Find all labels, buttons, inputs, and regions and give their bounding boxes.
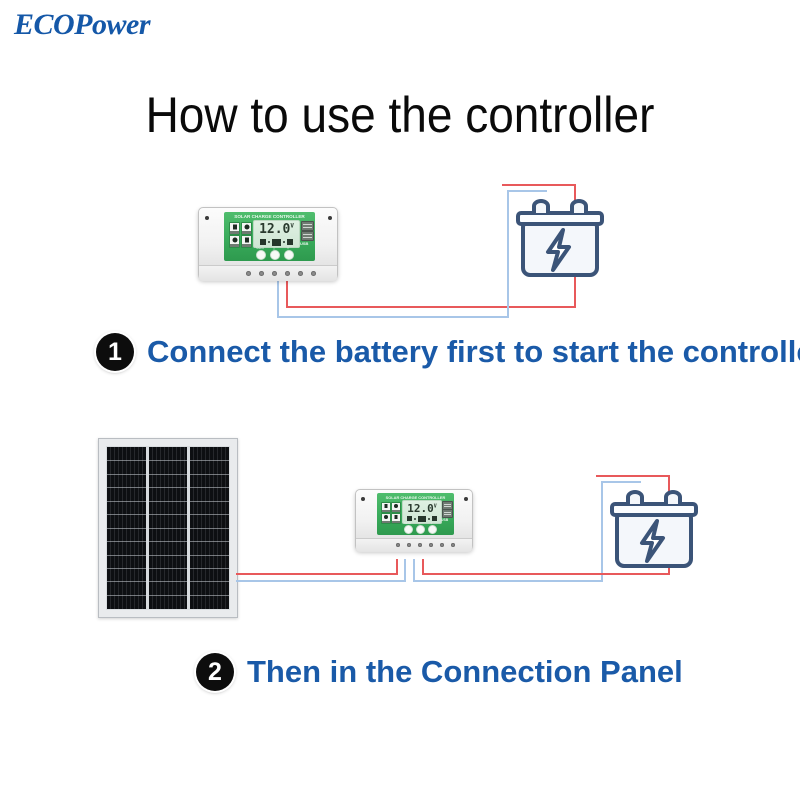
lcd-voltage-number: 12.0 (259, 222, 290, 237)
terminal-hole[interactable] (440, 543, 444, 547)
down-button-label: ▽ (280, 246, 296, 250)
controller-faceplate: SOLAR CHARGE CONTROLLER 12.0V Menu △ ▽ U… (377, 493, 454, 535)
negative-wire-segment-vertical-step1 (277, 280, 279, 318)
panel-negative-wire-horizontal (228, 580, 406, 582)
step-2-text: Then in the Connection Panel (247, 654, 683, 690)
controller-faceplate: SOLAR CHARGE CONTROLLER 12.0V Menu △ ▽ (224, 212, 315, 261)
lcd-voltage-value: 12.0V (254, 222, 299, 237)
panel-lead-positive (236, 573, 252, 575)
lcd-voltage-value: 12.0V (403, 502, 441, 515)
load-status-icon (241, 222, 252, 235)
menu-button[interactable] (256, 250, 266, 260)
lock-status-icon (241, 235, 252, 248)
lcd-display: 12.0V (402, 500, 442, 524)
panel-positive-wire-horizontal (228, 573, 398, 575)
lcd-dot (268, 241, 270, 243)
terminal-hole[interactable] (285, 271, 290, 276)
terminal-hole[interactable] (259, 271, 264, 276)
battery-negative-wire-horizontal (413, 580, 603, 582)
lcd-battery-symbol (418, 516, 426, 522)
solar-status-icon (381, 502, 391, 513)
usb-port-icon[interactable] (301, 231, 314, 241)
battery-graphic (512, 193, 608, 288)
step-2-badge: 2 (196, 653, 234, 691)
terminal-hole[interactable] (272, 271, 277, 276)
screw-icon (464, 497, 468, 501)
lcd-load-symbol (432, 516, 437, 521)
lcd-symbol-row (254, 238, 299, 246)
terminal-strip[interactable] (356, 538, 472, 552)
battery-positive-wire-top (596, 475, 670, 477)
terminal-hole[interactable] (407, 543, 411, 547)
down-button-label: ▽ (424, 522, 439, 525)
panel-lead-negative (236, 580, 252, 582)
step-1: 1 Connect the battery first to start the… (96, 333, 800, 371)
solar-cell-column (190, 447, 229, 609)
down-button[interactable] (428, 525, 437, 534)
solar-charge-controller[interactable]: SOLAR CHARGE CONTROLLER 12.0V Menu △ ▽ U… (355, 489, 473, 551)
screw-icon (361, 497, 365, 501)
lcd-dot (283, 241, 285, 243)
lcd-dot (428, 518, 430, 520)
lcd-display: 12.0V (253, 220, 300, 248)
down-button[interactable] (284, 250, 294, 260)
solar-panel[interactable] (98, 438, 238, 618)
solar-charge-controller[interactable]: SOLAR CHARGE CONTROLLER 12.0V Menu △ ▽ (198, 207, 338, 280)
panel-positive-wire-riser (396, 559, 398, 575)
brand-logo: ECOPower (14, 8, 150, 42)
positive-wire-segment-top-step1 (502, 184, 576, 186)
lcd-voltage-unit: V (434, 503, 437, 509)
lcd-dot (414, 518, 416, 520)
solar-cell-column (107, 447, 146, 609)
panel-negative-wire-riser (404, 559, 406, 582)
positive-wire-segment-vertical-step1 (286, 280, 288, 308)
terminal-hole[interactable] (311, 271, 316, 276)
solar-status-icon (229, 222, 240, 235)
usb-label: USB (441, 518, 448, 522)
faceplate-title: SOLAR CHARGE CONTROLLER (224, 214, 315, 219)
battery-icon (512, 193, 608, 288)
negative-wire-segment-top-step1 (507, 190, 547, 192)
terminal-hole[interactable] (418, 543, 422, 547)
usb-label: USB (300, 241, 308, 246)
menu-button[interactable] (404, 525, 413, 534)
usb-port-icon[interactable] (301, 221, 314, 231)
positive-wire-segment-horizontal-step1 (286, 306, 576, 308)
terminal-strip[interactable] (199, 265, 337, 281)
solar-cell-column (149, 447, 188, 609)
lcd-solar-symbol (260, 239, 266, 245)
up-button[interactable] (270, 250, 280, 260)
terminal-hole[interactable] (298, 271, 303, 276)
battery-icon (606, 484, 702, 579)
battery-negative-wire-top (601, 481, 641, 483)
lcd-load-symbol (287, 239, 293, 245)
terminal-hole[interactable] (429, 543, 433, 547)
lcd-solar-symbol (407, 516, 412, 521)
solar-panel-cells (106, 446, 230, 610)
terminal-hole[interactable] (451, 543, 455, 547)
battery-negative-wire-riser-left (413, 559, 415, 582)
load-status-icon (391, 502, 401, 513)
time-status-icon (229, 235, 240, 248)
usb-port-icon[interactable] (442, 509, 453, 518)
step-1-badge: 1 (96, 333, 134, 371)
step-2: 2 Then in the Connection Panel (196, 653, 683, 691)
time-status-icon (381, 513, 391, 524)
page-title: How to use the controller (32, 86, 768, 144)
lcd-symbol-row (403, 515, 441, 522)
up-button[interactable] (416, 525, 425, 534)
lcd-voltage-number: 12.0 (407, 502, 434, 515)
battery-negative-wire-riser-right (601, 481, 603, 582)
lcd-battery-symbol (272, 239, 281, 246)
step-1-text: Connect the battery first to start the c… (147, 334, 800, 370)
negative-wire-segment-riser-step1 (507, 190, 509, 318)
lcd-voltage-unit: V (290, 224, 294, 230)
battery-graphic (606, 484, 702, 579)
terminal-hole[interactable] (246, 271, 251, 276)
screw-icon (328, 216, 332, 220)
negative-wire-segment-horizontal-step1 (277, 316, 509, 318)
screw-icon (205, 216, 209, 220)
terminal-hole[interactable] (396, 543, 400, 547)
